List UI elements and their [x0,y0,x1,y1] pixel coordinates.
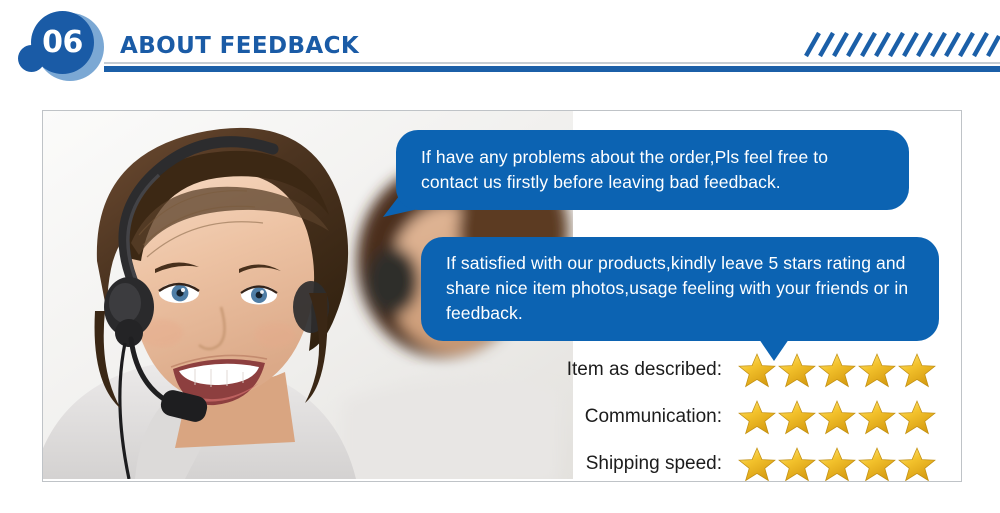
star-icon [818,446,856,482]
bubble-satisfied-rating-text: If satisfied with our products,kindly le… [446,251,917,326]
bubble-satisfied-rating: If satisfied with our products,kindly le… [421,237,939,341]
rating-label-communication: Communication: [530,406,738,428]
star-icon [858,399,896,435]
rating-label-shipping-speed: Shipping speed: [530,453,738,475]
header-rule-light [104,62,1000,64]
bubble-order-problem: If have any problems about the order,Pls… [396,130,909,210]
star-icon [898,352,936,388]
star-icon [898,446,936,482]
star-icon [818,399,856,435]
star-icon [778,352,816,388]
diagonal-stripes-decoration [800,25,1000,58]
star-rating-communication [738,399,936,435]
rating-row: Communication: [530,398,950,436]
star-icon [778,399,816,435]
rating-label-item-as-described: Item as described: [530,359,738,381]
feedback-panel: If have any problems about the order,Pls… [42,110,962,482]
page-header: 06 ABOUT FEEDBACK [0,0,1000,96]
ratings-list: Item as described: Communication: Shippi… [530,351,950,482]
star-icon [738,352,776,388]
section-number-label: 06 [42,28,83,58]
star-icon [898,399,936,435]
star-icon [738,399,776,435]
section-number-badge: 06 [31,11,94,74]
star-rating-shipping-speed [738,446,936,482]
star-icon [818,352,856,388]
header-rule-dark [104,66,1000,72]
star-rating-item-as-described [738,352,936,388]
star-icon [778,446,816,482]
rating-row: Item as described: [530,351,950,389]
rating-row: Shipping speed: [530,445,950,482]
star-icon [738,446,776,482]
page-title: ABOUT FEEDBACK [120,33,359,59]
star-icon [858,446,896,482]
bubble-order-problem-text: If have any problems about the order,Pls… [421,145,887,195]
star-icon [858,352,896,388]
